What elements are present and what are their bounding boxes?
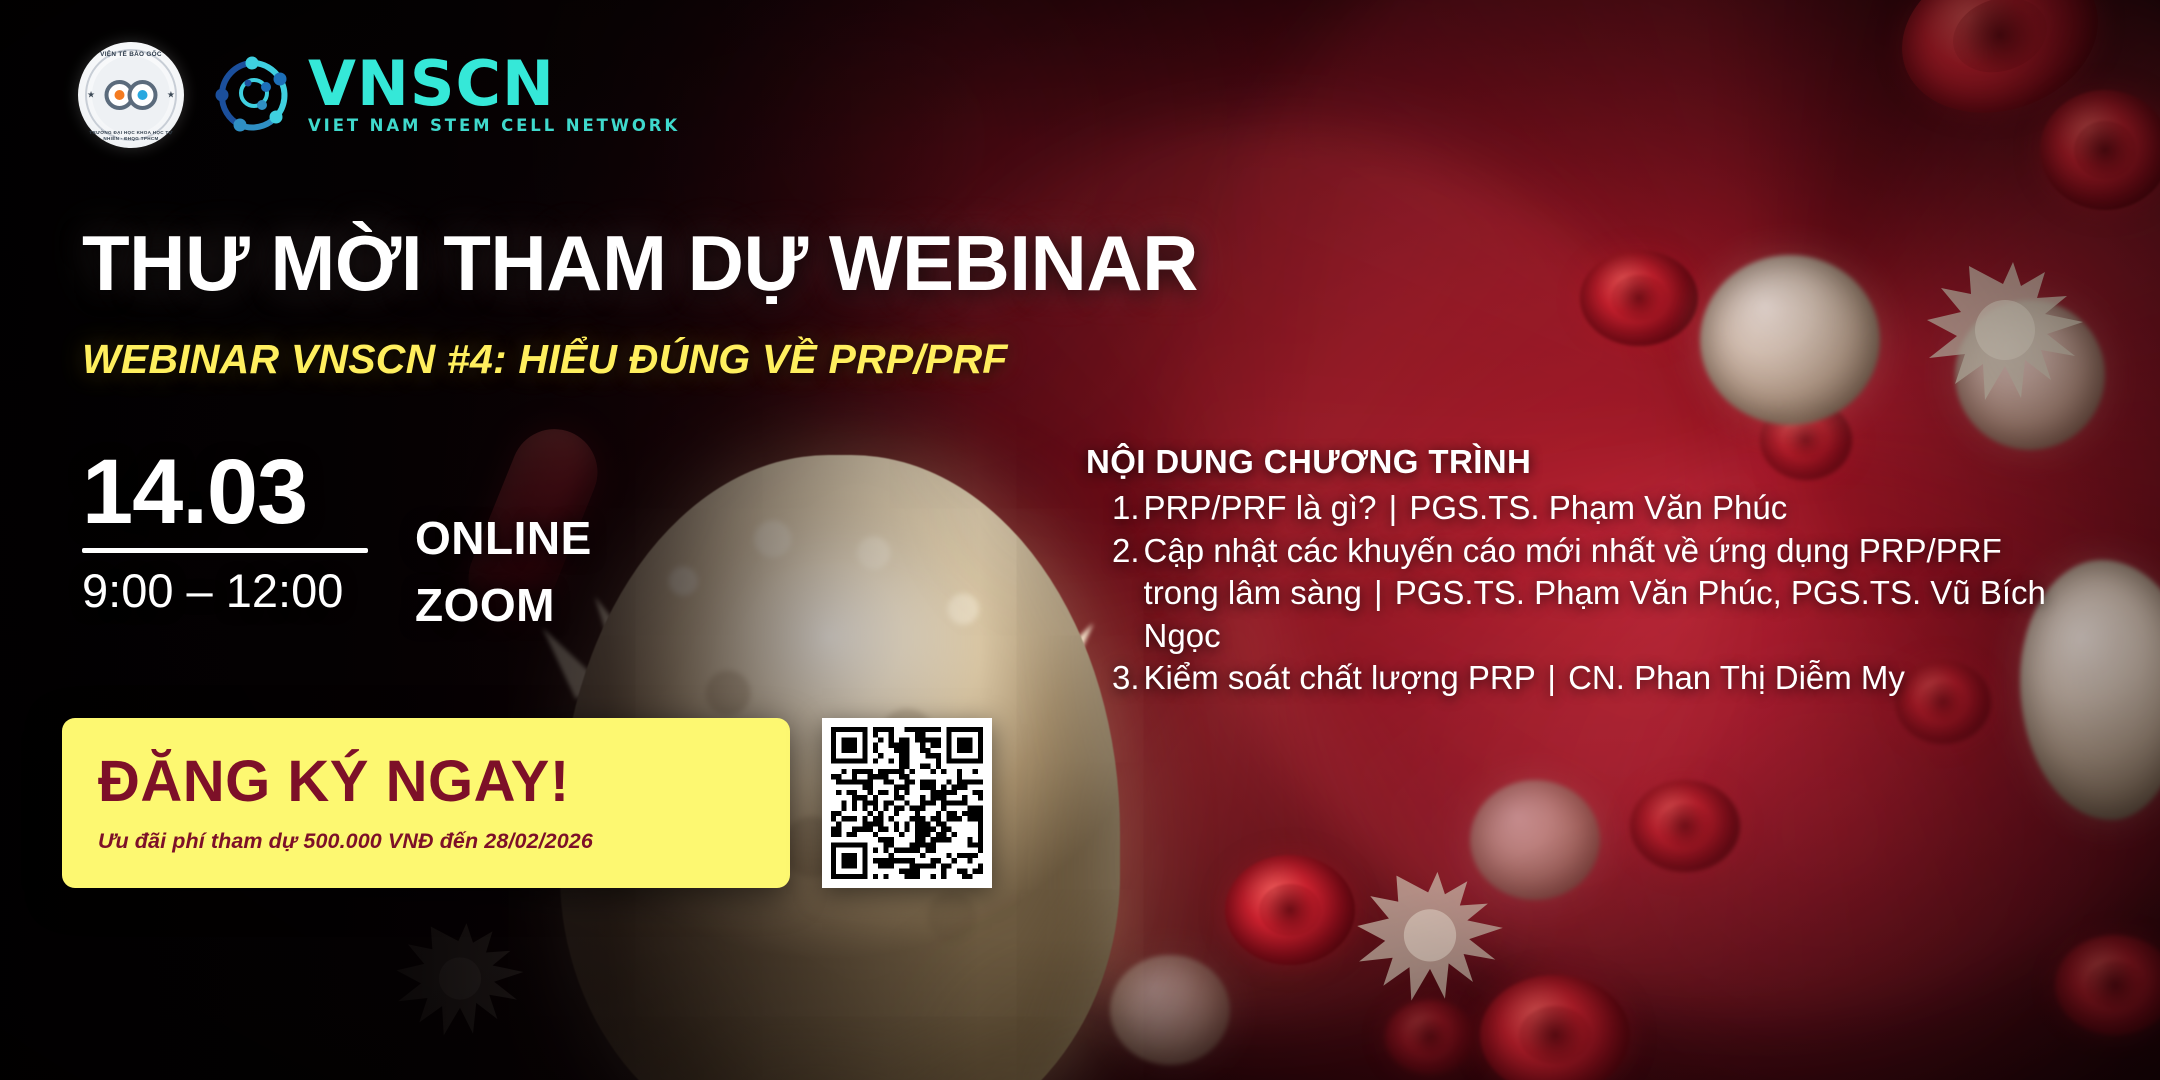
agenda-section: NỘI DUNG CHƯƠNG TRÌNH 1.PRP/PRF là gì? |… xyxy=(1086,443,2086,700)
event-mode-platform: ZOOM xyxy=(415,572,592,639)
seal-cell-right-icon xyxy=(128,80,158,110)
agenda-separator: | xyxy=(1544,659,1559,696)
seal-dot-right xyxy=(138,90,148,100)
page-subtitle: WEBINAR VNSCN #4: HIỂU ĐÚNG VỀ PRP/PRF xyxy=(82,336,1008,383)
seal-cell-pair-icon xyxy=(105,80,158,110)
agenda-list: 1.PRP/PRF là gì? | PGS.TS. Phạm Văn Phúc… xyxy=(1086,487,2086,700)
seal-star-left-icon: ★ xyxy=(87,90,95,101)
event-mode-online: ONLINE xyxy=(415,505,592,572)
register-promo-text: Ưu đãi phí tham dự 500.000 VNĐ đến 28/02… xyxy=(98,829,754,854)
vnscn-wordmark: VNSCN VIET NAM STEM CELL NETWORK xyxy=(308,55,680,136)
vnscn-network-mark-icon xyxy=(210,53,294,137)
agenda-item-text: Cập nhật các khuyến cáo mới nhất về ứng … xyxy=(1144,530,2086,658)
agenda-item: 2.Cập nhật các khuyến cáo mới nhất về ứn… xyxy=(1112,530,2086,658)
agenda-item-number: 3. xyxy=(1112,657,1140,700)
vnscn-name: VNSCN xyxy=(308,55,680,114)
event-date: 14.03 xyxy=(82,448,368,536)
seal-star-right-icon: ★ xyxy=(167,90,175,101)
agenda-item-text: Kiểm soát chất lượng PRP | CN. Phan Thị … xyxy=(1144,657,2086,700)
register-cta-button[interactable]: ĐĂNG KÝ NGAY! Ưu đãi phí tham dự 500.000… xyxy=(62,718,790,888)
agenda-title: NỘI DUNG CHƯƠNG TRÌNH xyxy=(1086,443,2086,481)
agenda-item-number: 2. xyxy=(1112,530,1140,573)
event-date-block: 14.03 9:00 – 12:00 xyxy=(82,448,368,618)
date-divider xyxy=(82,548,368,553)
seal-dot-left xyxy=(115,90,125,100)
institute-seal-logo: VIỆN TẾ BÀO GỐC ★ ★ TRƯỜNG ĐẠI HỌC KHOA … xyxy=(78,42,184,148)
vnscn-logo: VNSCN VIET NAM STEM CELL NETWORK xyxy=(210,53,680,137)
page-title: THƯ MỜI THAM DỰ WEBINAR xyxy=(82,218,1198,309)
agenda-item-number: 1. xyxy=(1112,487,1140,530)
agenda-item: 3.Kiểm soát chất lượng PRP | CN. Phan Th… xyxy=(1112,657,2086,700)
agenda-separator: | xyxy=(1371,574,1386,611)
register-cta-label: ĐĂNG KÝ NGAY! xyxy=(98,753,754,811)
logo-row: VIỆN TẾ BÀO GỐC ★ ★ TRƯỜNG ĐẠI HỌC KHOA … xyxy=(78,42,680,148)
seal-top-label: VIỆN TẾ BÀO GỐC xyxy=(78,51,184,58)
vnscn-tagline: VIET NAM STEM CELL NETWORK xyxy=(308,116,680,135)
agenda-item-text: PRP/PRF là gì? | PGS.TS. Phạm Văn Phúc xyxy=(1144,487,2086,530)
event-mode-block: ONLINE ZOOM xyxy=(415,505,592,639)
event-time: 9:00 – 12:00 xyxy=(82,563,368,618)
qr-code-image xyxy=(831,727,983,879)
seal-bottom-label: TRƯỜNG ĐẠI HỌC KHOA HỌC TỰ NHIÊN - ĐHQG … xyxy=(78,130,184,141)
registration-qr-code[interactable] xyxy=(822,718,992,888)
agenda-separator: | xyxy=(1386,489,1401,526)
agenda-item: 1.PRP/PRF là gì? | PGS.TS. Phạm Văn Phúc xyxy=(1112,487,2086,530)
